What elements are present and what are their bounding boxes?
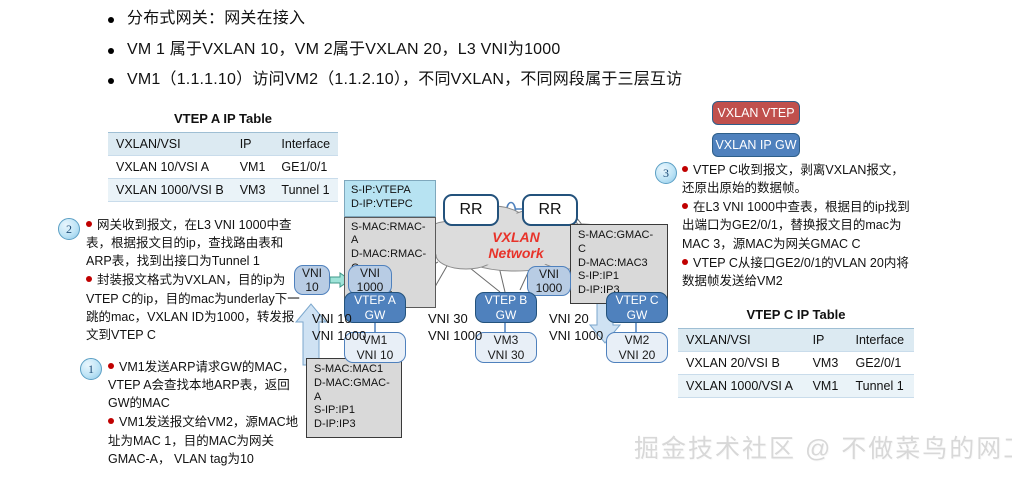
vm1-label-line2: VNI 10 (357, 348, 394, 362)
path-label-line2: VNI 1000 (549, 328, 603, 345)
column-header-vxlan-vsi: VXLAN/VSI (108, 133, 232, 156)
table-header-row: VXLAN/VSI IP Interface (678, 329, 914, 352)
annotation-text: 网关收到报文，在L3 VNI 1000中查表，根据报文目的ip，查找路由表和AR… (86, 218, 292, 268)
vm1-label-line1: VM1 (363, 333, 388, 347)
vni-box-1000-right: VNI 1000 (527, 266, 571, 296)
red-bullet-icon (108, 418, 114, 424)
cell-interface: GE2/0/1 (847, 352, 914, 375)
column-header-ip: IP (805, 329, 848, 352)
bullet-dot-icon (108, 78, 114, 84)
red-bullet-icon (682, 259, 688, 265)
vm2-node[interactable]: VM2 VNI 20 (606, 332, 668, 363)
rr-node-left[interactable]: RR (443, 194, 499, 226)
annotation-line: VM1发送报文给VM2，源MAC地址为MAC 1，目的MAC为网关GMAC-A，… (108, 413, 304, 467)
path-label-line1: VNI 10 (312, 311, 366, 328)
path-label-vtep-c: VNI 20 VNI 1000 (549, 311, 603, 345)
vni-label-line1: VNI (360, 266, 380, 280)
annotation-text: VM1发送报文给VM2，源MAC地址为MAC 1，目的MAC为网关GMAC-A，… (108, 415, 298, 465)
vtep-b-node[interactable]: VTEP B GW (475, 292, 537, 323)
packet-field: S-IP:IP1 (578, 270, 660, 284)
packet-field: D-MAC:GMAC-A (314, 377, 394, 405)
path-label-line2: VNI 1000 (312, 328, 366, 345)
header-bullet-text: 分布式网关：网关在接入 (127, 8, 305, 30)
red-bullet-icon (682, 203, 688, 209)
header-bullet-item: 分布式网关：网关在接入 (108, 8, 988, 30)
annotation-text: VTEP C从接口GE2/0/1的VLAN 20内将数据帧发送给VM2 (682, 256, 909, 288)
watermark-text: 掘金技术社区 @ 不做菜鸟的网工 (634, 429, 1012, 465)
cell-vxlan-vsi: VXLAN 10/VSI A (108, 156, 232, 179)
packet-field: D-MAC:MAC3 (578, 257, 660, 271)
vtep-a-table-caption: VTEP A IP Table (108, 106, 338, 133)
vm2-label-line1: VM2 (625, 333, 650, 347)
cell-interface: Tunnel 1 (273, 179, 338, 202)
vtep-b-label-line1: VTEP B (485, 293, 527, 307)
path-label-line1: VNI 30 (428, 311, 482, 328)
path-label-vtep-a: VNI 10 VNI 1000 (312, 311, 366, 345)
rr-node-right[interactable]: RR (522, 194, 578, 226)
vtep-c-label-line2: GW (627, 308, 648, 322)
annotation-step-2: 网关收到报文，在L3 VNI 1000中查表，根据报文目的ip，查找路由表和AR… (86, 216, 301, 345)
column-header-vxlan-vsi: VXLAN/VSI (678, 329, 805, 352)
table-caption-row: VTEP A IP Table (108, 106, 338, 133)
packet-bottom-section: S-MAC:MAC1 D-MAC:GMAC-A S-IP:IP1 D-IP:IP… (306, 358, 402, 438)
annotation-line: 封装报文格式为VXLAN，目的ip为VTEP C的ip，目的mac为underl… (86, 271, 301, 344)
table-row: VXLAN 1000/VSI A VM1 Tunnel 1 (678, 375, 914, 398)
annotation-text: 在L3 VNI 1000中查表，根据目的ip找到出端口为GE2/0/1，替换报文… (682, 200, 910, 250)
annotation-text: VTEP C收到报文，剥离VXLAN报文，还原出原始的数据帧。 (682, 163, 904, 195)
header-bullet-text: VM 1 属于VXLAN 10，VM 2属于VXLAN 20，L3 VNI为10… (127, 39, 560, 61)
table-header-row: VXLAN/VSI IP Interface (108, 133, 338, 156)
annotation-step-3: VTEP C收到报文，剥离VXLAN报文，还原出原始的数据帧。 在L3 VNI … (682, 161, 914, 291)
vm2-label-line2: VNI 20 (619, 348, 656, 362)
vm3-node[interactable]: VM3 VNI 30 (475, 332, 537, 363)
packet-field: S-MAC:RMAC-A (351, 221, 429, 249)
vni-label-line1: VNI (539, 267, 559, 281)
vni-label-line2: 10 (305, 280, 318, 294)
annotation-line: VTEP C从接口GE2/0/1的VLAN 20内将数据帧发送给VM2 (682, 254, 914, 290)
cell-ip: VM3 (232, 179, 274, 202)
cell-vxlan-vsi: VXLAN 1000/VSI A (678, 375, 805, 398)
vtep-c-node[interactable]: VTEP C GW (606, 292, 668, 323)
vni-label-line1: VNI (302, 266, 322, 280)
vxlan-network-cloud-label: VXLAN Network (470, 229, 562, 261)
cell-ip: VM1 (805, 375, 848, 398)
packet-field: S-MAC:MAC1 (314, 363, 394, 377)
column-header-interface: Interface (273, 133, 338, 156)
red-bullet-icon (108, 363, 114, 369)
annotation-line: 在L3 VNI 1000中查表，根据目的ip找到出端口为GE2/0/1，替换报文… (682, 198, 914, 252)
vni-box-10: VNI 10 (294, 265, 330, 295)
vtep-a-label-line2: GW (365, 308, 386, 322)
column-header-ip: IP (232, 133, 274, 156)
step-badge-1: 1 (80, 358, 102, 380)
vtep-c-table-caption: VTEP C IP Table (678, 302, 914, 329)
red-bullet-icon (682, 166, 688, 172)
vm3-label-line2: VNI 30 (488, 348, 525, 362)
packet-field: D-IP:IP3 (314, 418, 394, 432)
packet-field: D-IP:VTEPC (351, 198, 429, 212)
cell-interface: GE1/0/1 (273, 156, 338, 179)
column-header-interface: Interface (847, 329, 914, 352)
header-bullet-text: VM1（1.1.1.10）访问VM2（1.1.2.10），不同VXLAN，不同网… (127, 69, 682, 91)
annotation-text: 封装报文格式为VXLAN，目的ip为VTEP C的ip，目的mac为underl… (86, 273, 300, 341)
annotation-text: VM1发送ARP请求GW的MAC，VTEP A会查找本地ARP表，返回GW的MA… (108, 360, 295, 410)
cell-ip: VM1 (232, 156, 274, 179)
vtep-b-label-line2: GW (496, 308, 517, 322)
vni-label-line2: 1000 (536, 281, 563, 295)
legend-chip-vxlan-ip-gw: VXLAN IP GW (712, 133, 800, 157)
table-row: VXLAN 20/VSI B VM3 GE2/0/1 (678, 352, 914, 375)
path-label-line1: VNI 20 (549, 311, 603, 328)
path-label-line2: VNI 1000 (428, 328, 482, 345)
packet-field: S-IP:VTEPA (351, 184, 429, 198)
cloud-label-line2: Network (470, 245, 562, 261)
step-badge-3: 3 (655, 162, 677, 184)
packet-field: S-IP:IP1 (314, 404, 394, 418)
table-caption-row: VTEP C IP Table (678, 302, 914, 329)
table-row: VXLAN 1000/VSI B VM3 Tunnel 1 (108, 179, 338, 202)
annotation-line: 网关收到报文，在L3 VNI 1000中查表，根据报文目的ip，查找路由表和AR… (86, 216, 301, 270)
packet-field: S-MAC:GMAC-C (578, 229, 660, 257)
cell-vxlan-vsi: VXLAN 20/VSI B (678, 352, 805, 375)
vtep-a-label-line1: VTEP A (354, 293, 396, 307)
path-label-vtep-b: VNI 30 VNI 1000 (428, 311, 482, 345)
packet-bottom-header: S-MAC:MAC1 D-MAC:GMAC-A S-IP:IP1 D-IP:IP… (306, 358, 402, 438)
cloud-label-line1: VXLAN (470, 229, 562, 245)
annotation-step-1: VM1发送ARP请求GW的MAC，VTEP A会查找本地ARP表，返回GW的MA… (108, 358, 304, 469)
legend-chip-vxlan-vtep: VXLAN VTEP (712, 101, 800, 125)
header-bullet-item: VM1（1.1.1.10）访问VM2（1.1.2.10），不同VXLAN，不同网… (108, 69, 988, 91)
red-bullet-icon (86, 221, 92, 227)
step-badge-2: 2 (58, 218, 80, 240)
cell-ip: VM3 (805, 352, 848, 375)
header-bullet-list: 分布式网关：网关在接入 VM 1 属于VXLAN 10，VM 2属于VXLAN … (108, 8, 988, 100)
vni-box-1000-left: VNI 1000 (348, 265, 392, 295)
annotation-line: VTEP C收到报文，剥离VXLAN报文，还原出原始的数据帧。 (682, 161, 914, 197)
cell-interface: Tunnel 1 (847, 375, 914, 398)
header-bullet-item: VM 1 属于VXLAN 10，VM 2属于VXLAN 20，L3 VNI为10… (108, 39, 988, 61)
packet-outer-ip-section: S-IP:VTEPA D-IP:VTEPC (344, 180, 436, 217)
table-row: VXLAN 10/VSI A VM1 GE1/0/1 (108, 156, 338, 179)
vtep-c-ip-table: VTEP C IP Table VXLAN/VSI IP Interface V… (678, 302, 914, 398)
bullet-dot-icon (108, 17, 114, 23)
bullet-dot-icon (108, 48, 114, 54)
annotation-line: VM1发送ARP请求GW的MAC，VTEP A会查找本地ARP表，返回GW的MA… (108, 358, 304, 412)
red-bullet-icon (86, 276, 92, 282)
vm3-label-line1: VM3 (494, 333, 519, 347)
vtep-c-label-line1: VTEP C (615, 293, 658, 307)
cell-vxlan-vsi: VXLAN 1000/VSI B (108, 179, 232, 202)
vtep-a-ip-table: VTEP A IP Table VXLAN/VSI IP Interface V… (108, 106, 338, 202)
